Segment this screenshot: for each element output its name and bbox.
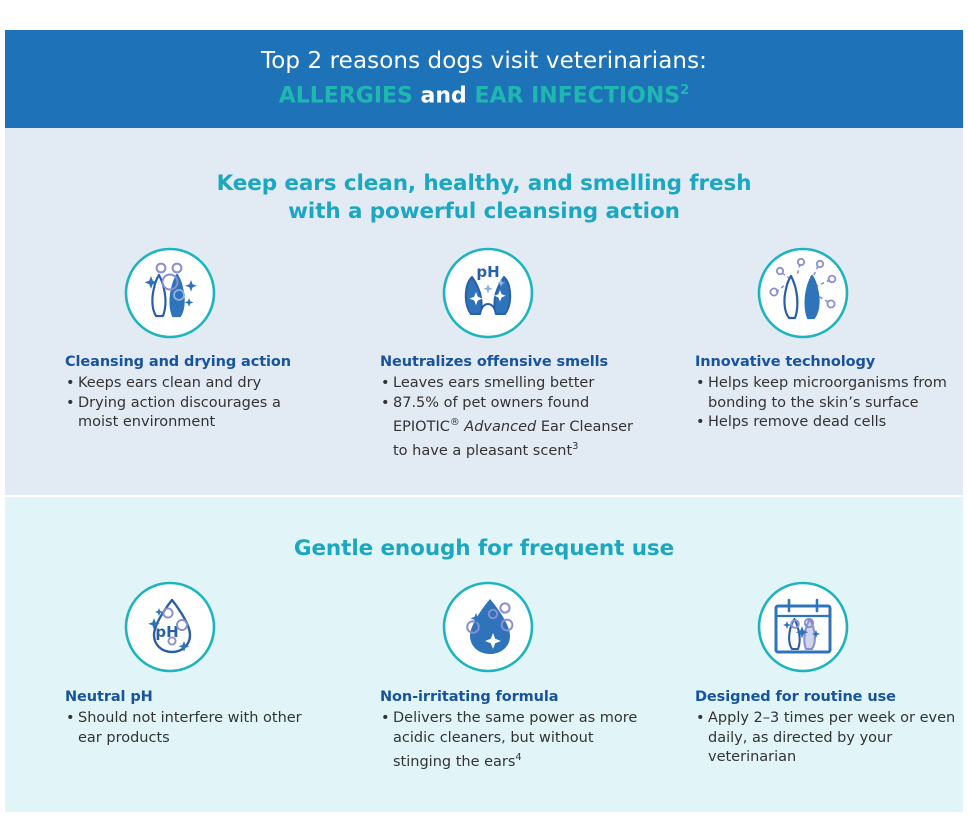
feature-column-technology bbox=[645, 246, 963, 340]
header-title-line2: ALLERGIES and EAR INFECTIONS2 bbox=[279, 76, 690, 111]
footnote-marker: 3 bbox=[572, 441, 578, 452]
feature-title: Designed for routine use bbox=[695, 689, 963, 705]
dog-ears-bubbles-sparkle-icon bbox=[123, 246, 217, 340]
section-two-heading: Gentle enough for frequent use bbox=[5, 497, 963, 563]
header-title-line1: Top 2 reasons dogs visit veterinarians: bbox=[261, 46, 707, 76]
feature-bullet-list: Leaves ears smelling better 87.5% of pet… bbox=[380, 374, 645, 462]
header-banner: Top 2 reasons dogs visit veterinarians: … bbox=[5, 30, 963, 128]
section-one-heading-line2: with a powerful cleansing action bbox=[5, 198, 963, 226]
list-item: Keeps ears clean and dry bbox=[65, 374, 325, 394]
water-droplet-ph-icon: pH bbox=[123, 580, 217, 674]
feature-title: Innovative technology bbox=[695, 354, 963, 370]
feature-title: Non-irritating formula bbox=[380, 689, 645, 705]
list-item: Should not interfere with other ear prod… bbox=[65, 709, 325, 748]
footnote-marker: 4 bbox=[515, 752, 521, 763]
section-one-text-row: Cleansing and drying action Keeps ears c… bbox=[5, 354, 963, 462]
icon-wrapper: pH bbox=[65, 580, 275, 674]
dog-ears-molecular-network-icon bbox=[756, 246, 850, 340]
section-one-heading: Keep ears clean, healthy, and smelling f… bbox=[5, 128, 963, 226]
list-item: Helps keep microorganisms from bonding t… bbox=[695, 374, 963, 413]
feature-bullet-list: Helps keep microorganisms from bonding t… bbox=[695, 374, 963, 433]
list-item-rich: Delivers the same power as more acidic c… bbox=[380, 709, 645, 772]
section-gentle-use: Gentle enough for frequent use pH bbox=[5, 497, 963, 812]
icon-wrapper bbox=[695, 246, 910, 340]
dog-ears-ph-sparkle-icon: pH bbox=[441, 246, 535, 340]
feature-text-smells: Neutralizes offensive smells Leaves ears… bbox=[325, 354, 645, 462]
feature-column-cleansing bbox=[5, 246, 325, 340]
header-footnote-marker: 2 bbox=[680, 83, 689, 98]
section-cleansing: Keep ears clean, healthy, and smelling f… bbox=[5, 128, 963, 495]
water-droplet-bubbles-icon bbox=[441, 580, 535, 674]
feature-bullet-list: Delivers the same power as more acidic c… bbox=[380, 709, 645, 772]
feature-text-technology: Innovative technology Helps keep microor… bbox=[645, 354, 963, 462]
bullet-prefix: 87.5% of pet owners found bbox=[393, 395, 589, 411]
brand-name: EPIOTIC bbox=[393, 419, 450, 435]
list-item: Leaves ears smelling better bbox=[380, 374, 645, 394]
feature-column-routine-use bbox=[645, 580, 963, 674]
icon-wrapper bbox=[380, 580, 595, 674]
section-one-heading-line1: Keep ears clean, healthy, and smelling f… bbox=[5, 170, 963, 198]
feature-text-cleansing: Cleansing and drying action Keeps ears c… bbox=[5, 354, 325, 462]
list-item: Drying action discourages a moist enviro… bbox=[65, 394, 325, 433]
feature-column-non-irritating bbox=[325, 580, 645, 674]
feature-bullet-list: Should not interfere with other ear prod… bbox=[65, 709, 325, 748]
feature-title: Cleansing and drying action bbox=[65, 354, 325, 370]
list-item-rich: 87.5% of pet owners found EPIOTIC® Advan… bbox=[380, 394, 645, 462]
list-item: Helps remove dead cells bbox=[695, 413, 963, 433]
calendar-dog-ears-icon bbox=[756, 580, 850, 674]
header-keyword-ear-infections: EAR INFECTIONS bbox=[474, 84, 680, 109]
icon-wrapper: pH bbox=[380, 246, 595, 340]
svg-text:pH: pH bbox=[476, 263, 499, 281]
feature-text-neutral-ph: Neutral pH Should not interfere with oth… bbox=[5, 689, 325, 772]
section-one-icon-row: pH bbox=[5, 246, 963, 340]
icon-wrapper bbox=[695, 580, 910, 674]
feature-text-routine-use: Designed for routine use Apply 2–3 times… bbox=[645, 689, 963, 772]
feature-bullet-list: Apply 2–3 times per week or even daily, … bbox=[695, 709, 963, 768]
icon-wrapper bbox=[65, 246, 275, 340]
feature-title: Neutralizes offensive smells bbox=[380, 354, 645, 370]
brand-qualifier: Advanced bbox=[460, 419, 541, 435]
registered-mark: ® bbox=[450, 417, 460, 428]
infographic-root: Top 2 reasons dogs visit veterinarians: … bbox=[0, 0, 968, 838]
section-two-icon-row: pH bbox=[5, 580, 963, 674]
list-item: Apply 2–3 times per week or even daily, … bbox=[695, 709, 963, 768]
feature-bullet-list: Keeps ears clean and dry Drying action d… bbox=[65, 374, 325, 433]
feature-text-non-irritating: Non-irritating formula Delivers the same… bbox=[325, 689, 645, 772]
section-two-text-row: Neutral pH Should not interfere with oth… bbox=[5, 689, 963, 772]
feature-column-neutral-ph: pH bbox=[5, 580, 325, 674]
feature-column-smells: pH bbox=[325, 246, 645, 340]
header-keyword-allergies: ALLERGIES bbox=[279, 84, 413, 109]
header-conjunction: and bbox=[413, 84, 475, 109]
feature-title: Neutral pH bbox=[65, 689, 325, 705]
